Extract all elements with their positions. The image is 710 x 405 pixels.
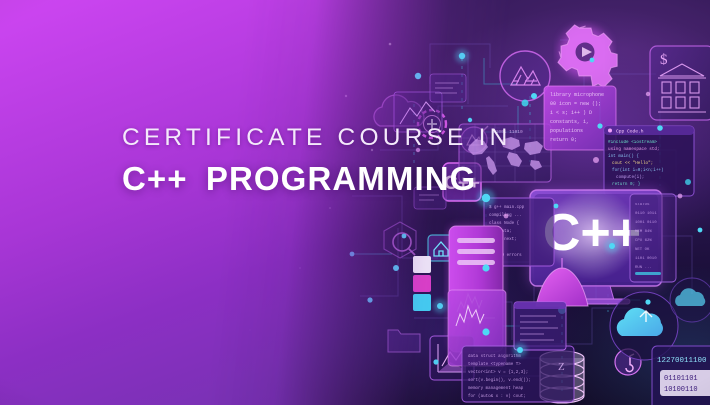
headline-spacer	[188, 160, 206, 197]
headline-cpp: C++	[122, 160, 188, 197]
cpp-course-banner: $	[0, 0, 710, 405]
headline-line-1: CERTIFICATE COURSE IN	[122, 126, 512, 151]
headline-programming: PROGRAMMING	[206, 160, 477, 197]
banner-headline: CERTIFICATE COURSE IN C++ PROGRAMMING	[122, 126, 512, 195]
headline-line-2: C++ PROGRAMMING	[122, 162, 512, 195]
vignette-overlay	[0, 0, 710, 405]
